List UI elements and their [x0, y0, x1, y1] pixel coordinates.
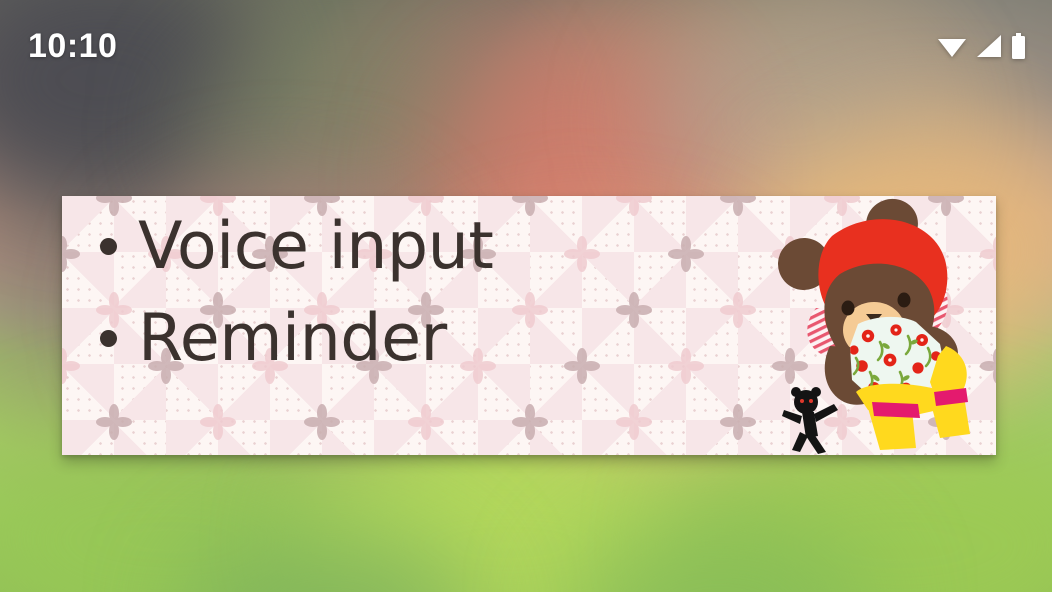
list-item[interactable]: Voice input — [100, 202, 493, 290]
feature-list: Voice input Reminder — [100, 202, 493, 382]
bullet-icon — [100, 238, 117, 255]
battery-icon — [1011, 33, 1026, 59]
cellular-signal-icon — [976, 34, 1002, 58]
status-bar-clock: 10:10 — [28, 27, 117, 66]
status-bar: 10:10 — [0, 0, 1052, 92]
list-item-label: Voice input — [138, 214, 493, 279]
bullet-icon — [100, 330, 117, 347]
list-item-label: Reminder — [138, 306, 447, 371]
small-black-bear-figure — [782, 387, 838, 454]
teddy-bear-illustration — [770, 196, 996, 455]
status-bar-icons — [937, 33, 1026, 59]
list-item[interactable]: Reminder — [100, 294, 493, 382]
wifi-icon — [937, 34, 967, 58]
